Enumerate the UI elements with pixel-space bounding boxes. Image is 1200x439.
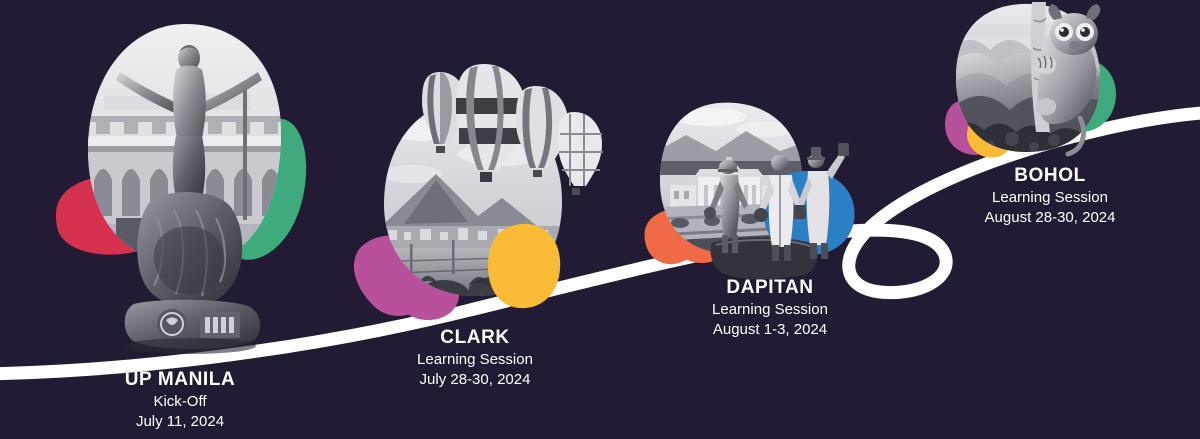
caption-up-manila: UP MANILA Kick-Off July 11, 2024 [50, 368, 310, 432]
stop-bohol[interactable] [930, 0, 1135, 160]
stop-up-manila[interactable] [38, 10, 318, 360]
stop-city-bohol: BOHOL [930, 164, 1170, 188]
stop-dates-dapitan: August 1-3, 2024 [655, 320, 885, 340]
stop-dates-clark: July 28-30, 2024 [355, 370, 595, 390]
collage-up-manila [38, 10, 318, 360]
blob-yellow [488, 224, 560, 308]
caption-dapitan: DAPITAN Learning Session August 1-3, 202… [655, 276, 885, 340]
collage-bohol [930, 0, 1135, 160]
stop-clark[interactable] [352, 58, 602, 323]
roadmap-poster: UP MANILA Kick-Off July 11, 2024 CLARK L… [0, 0, 1200, 439]
stop-city-up-manila: UP MANILA [50, 368, 310, 392]
stop-kind-clark: Learning Session [355, 350, 595, 370]
collage-clark [352, 58, 602, 323]
stop-city-dapitan: DAPITAN [655, 276, 885, 300]
stop-kind-up-manila: Kick-Off [50, 392, 310, 412]
caption-bohol: BOHOL Learning Session August 28-30, 202… [930, 164, 1170, 228]
balloon-4 [558, 112, 603, 195]
stop-kind-dapitan: Learning Session [655, 300, 885, 320]
caption-clark: CLARK Learning Session July 28-30, 2024 [355, 326, 595, 390]
stop-city-clark: CLARK [355, 326, 595, 350]
rizal-statue-group [704, 143, 849, 279]
stop-dates-up-manila: July 11, 2024 [50, 412, 310, 432]
stop-dapitan[interactable] [640, 95, 875, 280]
stop-kind-bohol: Learning Session [930, 188, 1170, 208]
stop-dates-bohol: August 28-30, 2024 [930, 208, 1170, 228]
collage-dapitan [640, 95, 875, 280]
